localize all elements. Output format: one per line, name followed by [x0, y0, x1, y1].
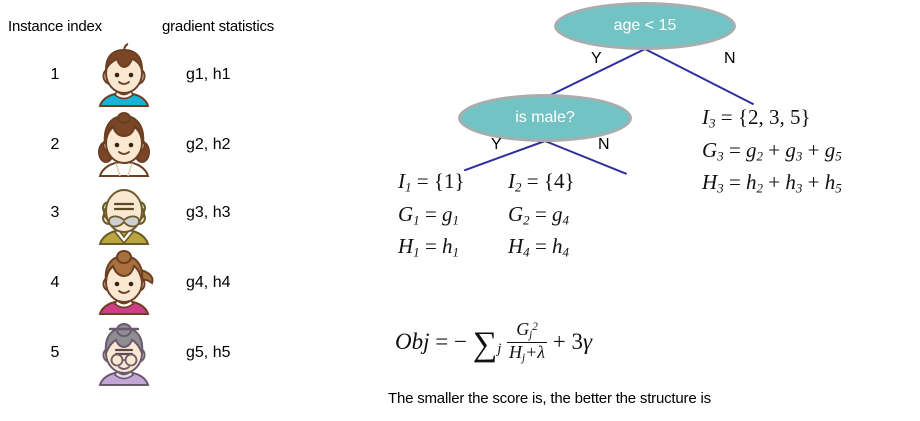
leaf-2-line-I: I2 = {4} [508, 168, 575, 201]
leaf-stats-2: I2 = {4} G2 = g4 H4 = h4 [508, 168, 575, 266]
gradient-statistics-value: g4, h4 [186, 274, 230, 292]
instance-index-value: 1 [40, 66, 70, 84]
old-man-avatar [88, 180, 160, 248]
objective-formula: Obj = − ∑j Gj2 Hj+λ + 3γ [395, 320, 592, 365]
table-row: 3 g3, h3 [0, 178, 340, 252]
leaf-3-line-G: G3 = g2 + g3 + g5 [702, 137, 842, 170]
leaf-stats-1: I1 = {1} G1 = g1 H1 = h1 [398, 168, 465, 266]
gradient-statistics-value: g5, h5 [186, 344, 230, 362]
instance-index-value: 3 [40, 204, 70, 222]
gradient-statistics-value: g3, h3 [186, 204, 230, 222]
leaf-1-line-I: I1 = {1} [398, 168, 465, 201]
instance-table: Instance index gradient statistics 1 g1,… [0, 0, 340, 421]
leaf-3-line-H: H3 = h2 + h3 + h5 [702, 169, 842, 202]
leaf-1-line-G: G1 = g1 [398, 201, 465, 234]
objective-plus: + [553, 329, 566, 354]
tree-node-is-male-label: is male? [515, 109, 575, 127]
leaf-stats-3: I3 = {2, 3, 5} G3 = g2 + g3 + g5 H3 = h2… [702, 104, 842, 202]
table-row: 1 g1, h1 [0, 40, 340, 114]
gradient-statistics-value: g1, h1 [186, 66, 230, 84]
leaf-1-line-H: H1 = h1 [398, 233, 465, 266]
edge-label-ismale-no: N [598, 136, 610, 154]
tree-node-is-male[interactable]: is male? [458, 94, 632, 142]
edge-ismale-yes [464, 140, 545, 171]
instance-index-value: 4 [40, 274, 70, 292]
girl-ponytail-avatar [88, 250, 160, 318]
edge-label-root-no: N [724, 50, 736, 68]
leaf-2-line-H: H4 = h4 [508, 233, 575, 266]
column-header-gradient-statistics: gradient statistics [162, 18, 274, 35]
table-row: 4 g4, h4 [0, 248, 340, 322]
gradient-statistics-value: g2, h2 [186, 136, 230, 154]
objective-gamma: γ [583, 329, 592, 354]
leaf-3-line-I: I3 = {2, 3, 5} [702, 104, 842, 137]
edge-label-root-yes: Y [591, 50, 602, 68]
objective-minus: − [454, 329, 467, 354]
tree-node-root-label: age < 15 [614, 17, 677, 35]
boy-avatar [88, 42, 160, 110]
summation-symbol: ∑ [473, 325, 498, 363]
tree-node-root[interactable]: age < 15 [554, 2, 736, 50]
objective-fraction: Gj2 Hj+λ [507, 320, 547, 365]
edge-label-ismale-yes: Y [491, 136, 502, 154]
leaf-2-line-G: G2 = g4 [508, 201, 575, 234]
old-woman-avatar [88, 320, 160, 388]
instance-index-value: 5 [40, 344, 70, 362]
objective-equals: = [435, 329, 448, 354]
column-header-instance-index: Instance index [8, 18, 102, 35]
decision-tree-diagram: age < 15 is male? Y N Y N I1 = {1} G1 = … [340, 0, 920, 421]
edge-root-no [645, 48, 755, 105]
instance-index-value: 2 [40, 136, 70, 154]
objective-lhs: Obj [395, 329, 430, 354]
girl-braids-avatar [88, 112, 160, 180]
objective-coefficient: 3 [571, 329, 583, 354]
diagram-caption: The smaller the score is, the better the… [388, 390, 711, 407]
table-row: 2 g2, h2 [0, 110, 340, 184]
table-row: 5 g5, h5 [0, 318, 340, 392]
